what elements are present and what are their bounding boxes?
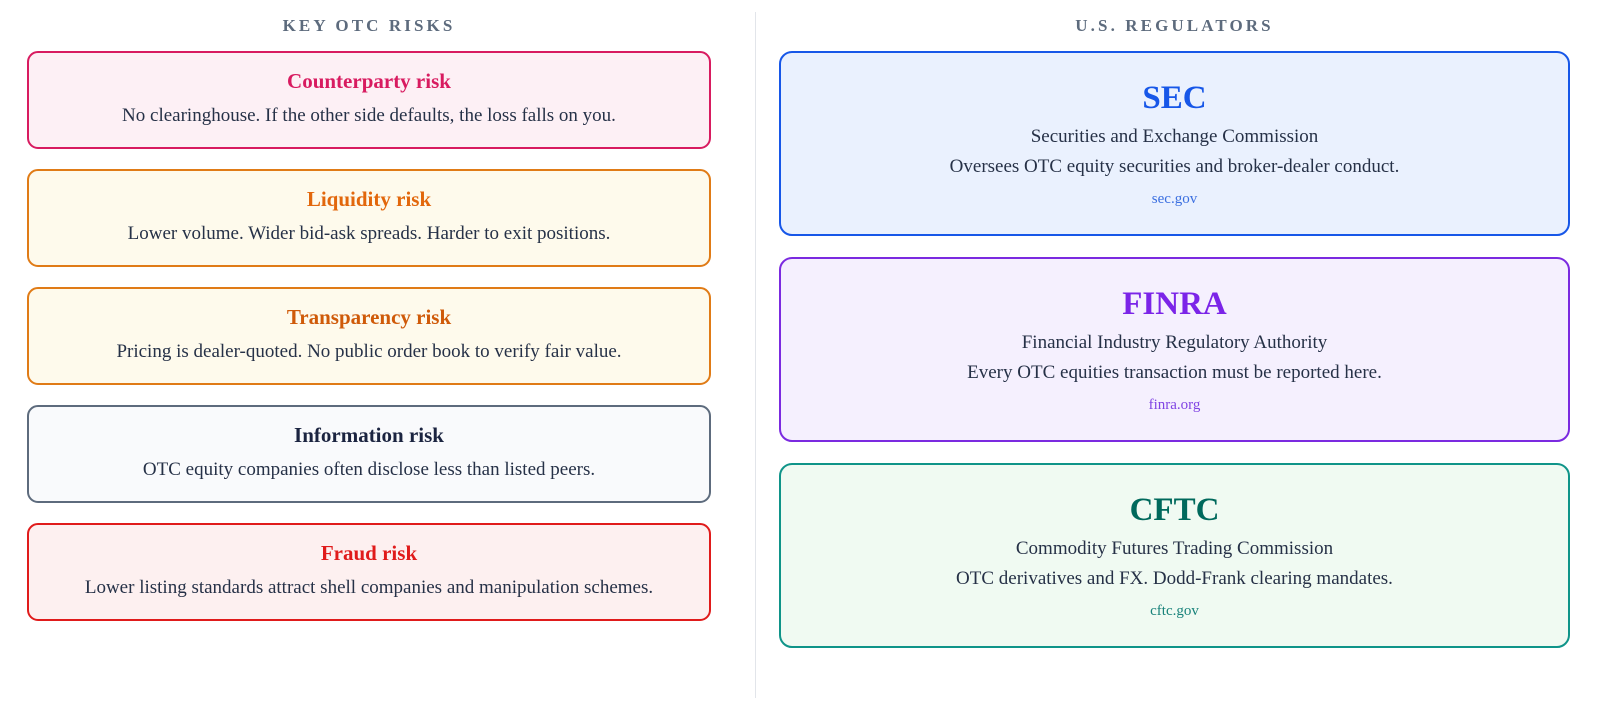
risk-card-title: Information risk — [47, 424, 691, 447]
risk-card-description: Lower volume. Wider bid-ask spreads. Har… — [47, 223, 691, 246]
comparison-board: Key OTC Risks Counterparty riskNo cleari… — [0, 0, 1600, 721]
regulator-role-description: Oversees OTC equity securities and broke… — [799, 156, 1550, 179]
risk-card: Liquidity riskLower volume. Wider bid-as… — [27, 169, 711, 267]
risk-card: Counterparty riskNo clearinghouse. If th… — [27, 51, 711, 149]
key-otc-risks-heading: Key OTC Risks — [27, 16, 711, 36]
risk-card-description: Lower listing standards attract shell co… — [47, 577, 691, 600]
key-otc-risks-column: Key OTC Risks Counterparty riskNo cleari… — [0, 0, 755, 721]
regulator-card: CFTCCommodity Futures Trading Commission… — [779, 463, 1570, 648]
regulator-website-link[interactable]: cftc.gov — [799, 603, 1550, 620]
risk-card-title: Fraud risk — [47, 542, 691, 565]
regulator-full-name: Commodity Futures Trading Commission — [799, 538, 1550, 561]
regulator-card: SECSecurities and Exchange CommissionOve… — [779, 51, 1570, 236]
us-regulators-heading: U.S. Regulators — [779, 16, 1570, 36]
risk-card-title: Liquidity risk — [47, 188, 691, 211]
column-divider — [755, 12, 756, 698]
regulator-role-description: Every OTC equities transaction must be r… — [799, 362, 1550, 385]
regulator-website-link[interactable]: sec.gov — [799, 191, 1550, 208]
regulator-role-description: OTC derivatives and FX. Dodd-Frank clear… — [799, 568, 1550, 591]
regulator-card: FINRAFinancial Industry Regulatory Autho… — [779, 257, 1570, 442]
regulator-abbreviation: CFTC — [799, 493, 1550, 528]
regulator-abbreviation: FINRA — [799, 287, 1550, 322]
regulator-full-name: Financial Industry Regulatory Authority — [799, 332, 1550, 355]
regulator-abbreviation: SEC — [799, 81, 1550, 116]
risk-card-list: Counterparty riskNo clearinghouse. If th… — [27, 51, 711, 641]
risk-card-title: Transparency risk — [47, 306, 691, 329]
regulator-full-name: Securities and Exchange Commission — [799, 126, 1550, 149]
risk-card-description: No clearinghouse. If the other side defa… — [47, 105, 691, 128]
regulator-card-list: SECSecurities and Exchange CommissionOve… — [779, 51, 1570, 669]
regulator-website-link[interactable]: finra.org — [799, 397, 1550, 414]
risk-card-title: Counterparty risk — [47, 70, 691, 93]
risk-card: Transparency riskPricing is dealer-quote… — [27, 287, 711, 385]
risk-card-description: OTC equity companies often disclose less… — [47, 459, 691, 482]
risk-card-description: Pricing is dealer-quoted. No public orde… — [47, 341, 691, 364]
us-regulators-column: U.S. Regulators SECSecurities and Exchan… — [755, 0, 1600, 721]
risk-card: Information riskOTC equity companies oft… — [27, 405, 711, 503]
risk-card: Fraud riskLower listing standards attrac… — [27, 523, 711, 621]
